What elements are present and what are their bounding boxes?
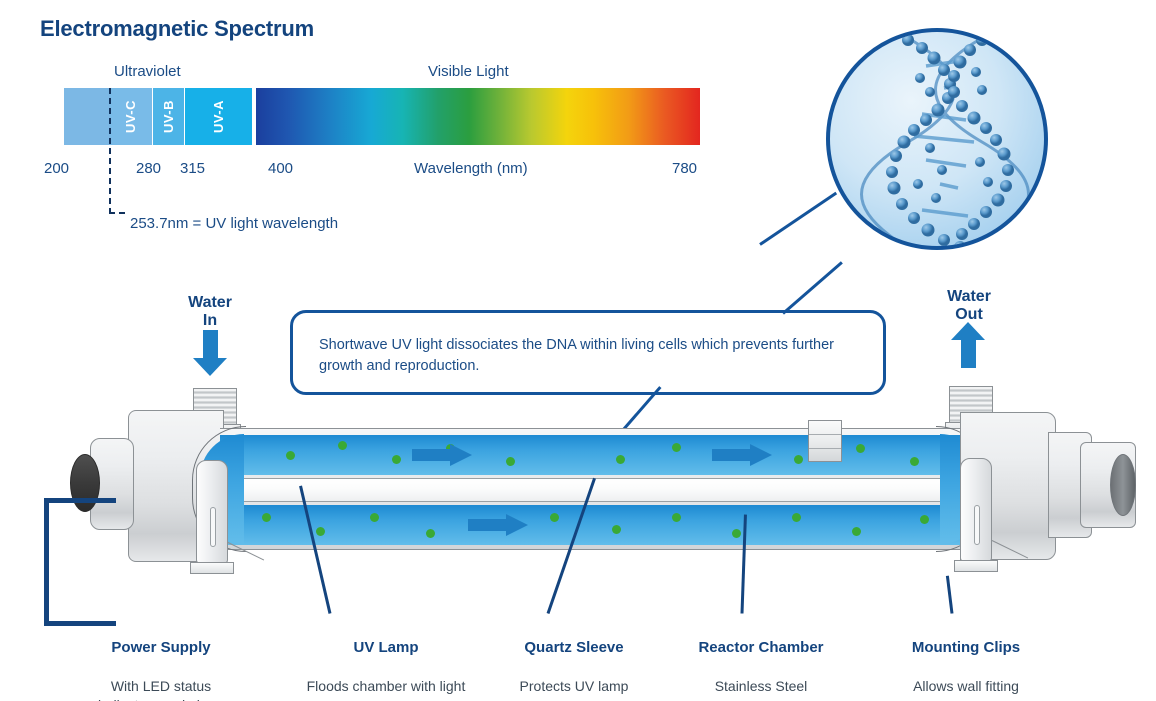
microbe-dot xyxy=(370,513,379,522)
microbe-dot xyxy=(910,457,919,466)
mounting-clip-slot xyxy=(974,505,980,545)
ultraviolet-header: Ultraviolet xyxy=(114,63,181,80)
quartz-sleeve xyxy=(220,478,972,502)
caption-quartz-sleeve-title: Quartz Sleeve xyxy=(492,639,656,656)
water-out-arrow-icon xyxy=(951,322,985,368)
microbe-dot xyxy=(920,515,929,524)
uv-band-below-uvc xyxy=(64,88,110,145)
water-out-label: Water Out xyxy=(932,288,1006,325)
caption-reactor-chamber-title: Reactor Chamber xyxy=(672,639,850,656)
callout-text: Shortwave UV light dissociates the DNA w… xyxy=(319,335,857,377)
mounting-clip-slot xyxy=(210,507,216,547)
mounting-clip-right-foot xyxy=(954,560,998,572)
microbe-dot xyxy=(338,441,347,450)
caption-mounting-clips: Mounting Clips Allows wall fitting xyxy=(888,621,1044,701)
microbe-dot xyxy=(852,527,861,536)
dna-magnifier-circle xyxy=(826,28,1048,250)
microbe-dot xyxy=(792,513,801,522)
uv-wavelength-marker-elbow xyxy=(109,212,125,214)
microbe-dot xyxy=(672,513,681,522)
microbe-dot xyxy=(426,529,435,538)
caption-quartz-sleeve-subtitle: Protects UV lamp xyxy=(492,677,656,696)
mounting-clip-right xyxy=(960,458,992,562)
uv-band-uvb-label: UV-B xyxy=(161,100,176,133)
visible-light-header: Visible Light xyxy=(428,63,509,80)
caption-mounting-clips-title: Mounting Clips xyxy=(888,639,1044,656)
microbe-dot xyxy=(612,525,621,534)
microbe-dot xyxy=(550,513,559,522)
water-in-arrow-icon xyxy=(193,330,227,376)
water-in-label: Water In xyxy=(175,294,245,331)
caption-reactor-chamber-subtitle: Stainless Steel xyxy=(672,677,850,696)
microbe-dot xyxy=(262,513,271,522)
microbe-dot xyxy=(316,527,325,536)
microbe-dot xyxy=(392,455,401,464)
water-zone-lower xyxy=(220,505,960,545)
water-zone-upper xyxy=(220,435,960,475)
microbe-dot xyxy=(506,457,515,466)
caption-mounting-clips-subtitle: Allows wall fitting xyxy=(888,677,1044,696)
microbe-dot xyxy=(732,529,741,538)
spectrum-bar: UV-C UV-B UV-A xyxy=(64,88,700,145)
microbe-dot xyxy=(856,444,865,453)
microbe-dot xyxy=(794,455,803,464)
power-supply-bracket xyxy=(44,498,116,626)
tick-400: 400 xyxy=(268,160,293,177)
page-title: Electromagnetic Spectrum xyxy=(40,16,314,42)
tick-200: 200 xyxy=(44,160,69,177)
outlet-bore xyxy=(1110,454,1136,516)
microbe-dot xyxy=(672,443,681,452)
uv-band-uvc: UV-C xyxy=(110,88,152,145)
mounting-clip-left-foot xyxy=(190,562,234,574)
tick-315: 315 xyxy=(180,160,205,177)
microbe-dot xyxy=(286,451,295,460)
infographic-canvas: Electromagnetic Spectrum Ultraviolet Vis… xyxy=(0,0,1156,701)
microbe-dot xyxy=(616,455,625,464)
caption-uv-lamp: UV Lamp Floods chamber with light xyxy=(296,621,476,701)
caption-power-supply-title: Power Supply xyxy=(78,639,244,656)
wavelength-axis-label: Wavelength (nm) xyxy=(414,160,528,177)
caption-power-supply: Power Supply With LED status indicators … xyxy=(78,621,244,701)
caption-quartz-sleeve: Quartz Sleeve Protects UV lamp xyxy=(492,621,656,701)
visible-light-gradient xyxy=(256,88,700,145)
tick-280: 280 xyxy=(136,160,161,177)
uv-band-uvc-label: UV-C xyxy=(124,100,139,133)
caption-power-supply-subtitle: With LED status indicators and alarm xyxy=(78,677,244,701)
uv-band-uva: UV-A xyxy=(185,88,252,145)
caption-uv-lamp-title: UV Lamp xyxy=(296,639,476,656)
mounting-clip-left xyxy=(196,460,228,564)
quartz-sleeve-connector xyxy=(808,420,842,462)
caption-reactor-chamber: Reactor Chamber Stainless Steel xyxy=(672,621,850,701)
uv-wavelength-marker-line xyxy=(109,88,111,214)
dna-helix-icon xyxy=(830,32,1048,250)
dna-pointer-line xyxy=(759,192,837,246)
uv-wavelength-note: 253.7nm = UV light wavelength xyxy=(130,215,338,232)
uv-band-uva-label: UV-A xyxy=(211,100,226,133)
callout-tail-to-dna xyxy=(782,261,843,314)
tick-780: 780 xyxy=(672,160,697,177)
caption-uv-lamp-subtitle: Floods chamber with light xyxy=(296,677,476,696)
uv-band-uvb: UV-B xyxy=(153,88,184,145)
